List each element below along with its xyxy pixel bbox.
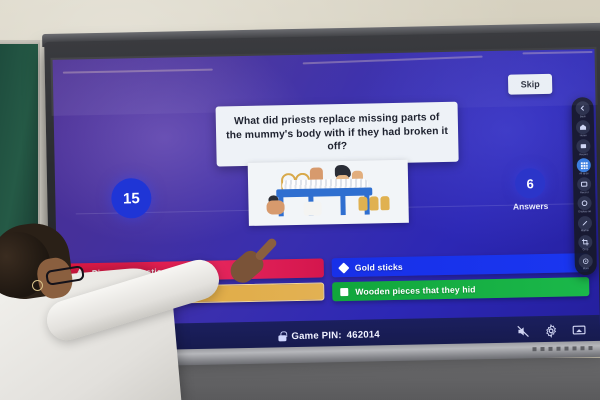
sidebar-item-home[interactable]: Home xyxy=(573,120,593,137)
classroom-scene: Skip What did priests replace missing pa… xyxy=(0,0,600,400)
illustration-table xyxy=(276,187,372,197)
game-pin-value: 462014 xyxy=(347,329,380,341)
illustration-cloth xyxy=(303,201,321,215)
more-icon xyxy=(579,254,593,268)
sidebar-item-recent[interactable]: Recent xyxy=(573,139,593,156)
game-pin-label: Game PIN: xyxy=(291,330,342,342)
cast-screen-icon[interactable] xyxy=(572,323,586,337)
marker-pen-icon xyxy=(578,216,592,230)
game-pin-group: Game PIN: 462014 xyxy=(278,329,380,342)
illustration-canopic-jar xyxy=(369,196,378,210)
sidebar-item-display-settings[interactable]: Display set xyxy=(574,196,594,213)
sidebar-label: Home xyxy=(580,135,587,138)
answer-label: Wooden pieces that they hid xyxy=(355,284,476,296)
sidebar-label: Back xyxy=(580,116,586,119)
square-icon xyxy=(340,287,348,295)
sidebar-label: Record xyxy=(580,192,588,195)
answer-label: Gold sticks xyxy=(355,261,403,272)
device-sidebar[interactable]: Back Home Recent xyxy=(571,97,597,275)
record-icon xyxy=(577,177,591,191)
sidebar-item-crop[interactable]: Crop xyxy=(575,235,595,252)
grid-apps-icon xyxy=(577,158,591,172)
sidebar-label: Marker xyxy=(581,230,589,233)
sidebar-label: Display set xyxy=(578,211,591,214)
illustration-kneeling-figure xyxy=(266,200,284,214)
recent-apps-icon xyxy=(576,139,590,153)
question-card: What did priests replace missing parts o… xyxy=(216,102,459,167)
home-icon xyxy=(576,120,590,134)
sidebar-item-record[interactable]: Record xyxy=(574,177,594,194)
answers-count-label: Answers xyxy=(496,201,566,212)
illustration-canopic-jar xyxy=(358,197,367,211)
skip-button[interactable]: Skip xyxy=(508,74,552,95)
sidebar-label: Recent xyxy=(579,154,587,157)
timer-value: 15 xyxy=(123,190,140,207)
settings-gear-icon[interactable] xyxy=(544,324,558,338)
answer-option-green[interactable]: Wooden pieces that they hid xyxy=(332,277,589,301)
bottom-bar-icons xyxy=(516,323,586,338)
question-illustration xyxy=(248,160,409,226)
display-settings-icon xyxy=(577,197,591,211)
sidebar-item-all-apps[interactable]: All apps xyxy=(574,158,594,175)
answers-counter: 6 Answers xyxy=(495,168,566,212)
student-earring xyxy=(32,280,43,291)
diamond-icon xyxy=(338,262,349,273)
sidebar-label: All apps xyxy=(579,173,588,176)
answers-count-circle: 6 xyxy=(515,168,546,199)
back-chevron-icon xyxy=(575,101,589,115)
sidebar-label: More xyxy=(583,268,589,271)
illustration-table-leg xyxy=(340,195,345,215)
sound-muted-icon[interactable] xyxy=(516,324,530,338)
student-pointing xyxy=(0,228,236,400)
sidebar-item-more[interactable]: More xyxy=(576,254,596,271)
sidebar-label: Crop xyxy=(583,249,589,252)
answers-count-value: 6 xyxy=(526,176,534,191)
sidebar-item-marker[interactable]: Marker xyxy=(575,216,595,233)
illustration-canopic-jar xyxy=(380,196,389,210)
crop-icon xyxy=(578,235,592,249)
sidebar-item-back[interactable]: Back xyxy=(572,101,592,118)
lock-icon xyxy=(278,331,286,341)
answer-option-blue[interactable]: Gold sticks xyxy=(332,253,589,277)
question-text: What did priests replace missing parts o… xyxy=(226,111,449,157)
